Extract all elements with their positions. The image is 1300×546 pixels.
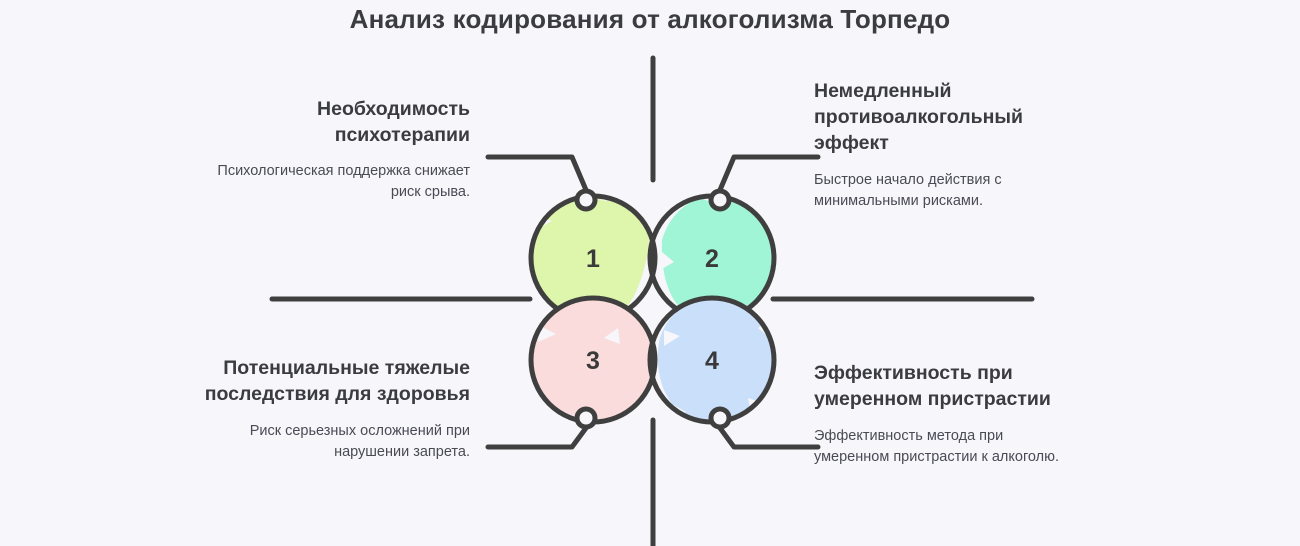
quadrant-top-right-description: Быстрое начало действия с минимальными р…: [814, 170, 1064, 212]
quadrant-bottom-left[interactable]: Потенциальные тяжелые последствия для зд…: [190, 355, 470, 463]
quadrant-bottom-right[interactable]: Эффективность при умеренном пристрастии …: [814, 360, 1064, 468]
venn-circle-4-number: 4: [705, 347, 719, 375]
quadrant-top-left[interactable]: Необходимость психотерапии Психологическ…: [190, 96, 470, 203]
venn-circle-3-number: 3: [586, 347, 600, 375]
venn-node-2[interactable]: [711, 191, 729, 209]
venn-circle-3[interactable]: 3: [529, 298, 659, 432]
connector-3: [488, 428, 586, 447]
venn-node-4[interactable]: [711, 409, 729, 427]
diagram-canvas: Анализ кодирования от алкоголизма Торпед…: [0, 0, 1300, 546]
quadrant-top-left-description: Психологическая поддержка снижает риск с…: [190, 161, 470, 203]
quadrant-top-left-heading: Необходимость психотерапии: [190, 96, 470, 148]
quadrant-bottom-left-description: Риск серьезных осложнений при нарушении …: [190, 421, 470, 463]
quadrant-bottom-left-heading: Потенциальные тяжелые последствия для зд…: [190, 355, 470, 407]
venn-node-3[interactable]: [577, 409, 595, 427]
quadrant-bottom-right-heading: Эффективность при умеренном пристрастии: [814, 360, 1064, 412]
connector-lines: [488, 157, 818, 447]
connector-2: [720, 157, 818, 190]
quadrant-top-right[interactable]: Немедленный противоалкогольный эффект Бы…: [814, 78, 1064, 212]
quadrant-bottom-right-description: Эффективность метода при умеренном прист…: [814, 426, 1064, 468]
connector-1: [488, 157, 586, 190]
venn-circle-4[interactable]: 4: [650, 297, 789, 429]
connector-4: [720, 428, 818, 447]
venn-circle-2-number: 2: [705, 245, 719, 273]
quadrant-top-right-heading: Немедленный противоалкогольный эффект: [814, 78, 1064, 156]
venn-diagram-graphic: 1 2: [0, 0, 1300, 546]
venn-node-1[interactable]: [577, 191, 595, 209]
venn-circle-1-number: 1: [586, 245, 600, 273]
